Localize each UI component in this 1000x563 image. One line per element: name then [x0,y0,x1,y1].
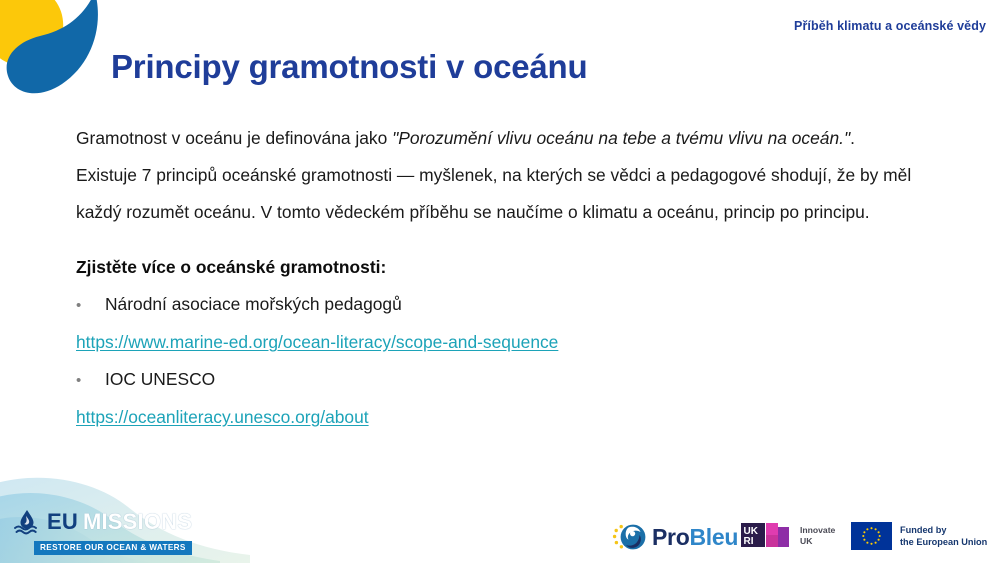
probleu-wordmark: ProBleu [652,526,738,549]
slide-canvas: Příběh klimatu a oceánské vědy Principy … [0,0,1000,563]
slide-body: Gramotnost v oceánu je definována jako "… [76,120,954,436]
list-item: • Národní asociace mořských pedagogů [76,286,954,324]
innovate-uk-text: Innovate UK [800,525,835,547]
eu-missions-missions-text: MISSIONS [83,511,192,533]
svg-text:RI: RI [744,536,754,547]
innovate-uk-line2: UK [800,536,835,547]
water-drop-wave-icon [12,507,42,537]
bullet-icon: • [76,287,105,324]
probleu-swirl-icon [612,521,648,553]
list-item: • IOC UNESCO [76,361,954,399]
definition-tail: . [850,128,855,148]
paragraph-principles: Existuje 7 principů oceánské gramotnosti… [76,157,954,231]
definition-lead: Gramotnost v oceánu je definována jako [76,128,392,148]
ukri-mark-icon: UK RI [740,521,793,551]
link-marine-ed[interactable]: https://www.marine-ed.org/ocean-literacy… [76,332,558,352]
eu-flag-icon [851,522,892,550]
funded-by-eu-text: Funded by the European Union [900,524,987,548]
deck-label: Příběh klimatu a oceánské vědy [794,19,986,33]
eu-missions-logo: EU MISSIONS RESTORE OUR OCEAN & WATERS [12,507,184,555]
funded-by-line1: Funded by [900,524,987,536]
paragraph-definition: Gramotnost v oceánu je definována jako "… [76,120,954,157]
ukri-innovate-uk-logo: UK RI Innovate UK [740,520,835,552]
ocean-leaf-logo-icon [0,0,110,104]
probleu-pro-text: Pro [652,524,689,550]
link-row: https://oceanliteracy.unesco.org/about [76,399,954,436]
eu-missions-eu-text: EU [47,511,78,533]
eu-missions-wordmark-row: EU MISSIONS [12,507,184,537]
list-item-label: IOC UNESCO [105,361,954,398]
link-row: https://www.marine-ed.org/ocean-literacy… [76,324,954,361]
page-title: Principy gramotnosti v oceánu [111,48,587,86]
bullet-icon: • [76,362,105,399]
probleu-bleu-text: Bleu [689,524,738,550]
funded-by-line2: the European Union [900,536,987,548]
probleu-logo: ProBleu [612,519,738,555]
definition-quote: "Porozumění vlivu oceánu na tebe a tvému… [392,128,850,148]
learn-more-heading: Zjistěte více o oceánské gramotnosti: [76,231,954,286]
eu-missions-tagline: RESTORE OUR OCEAN & WATERS [34,541,192,555]
list-item-label: Národní asociace mořských pedagogů [105,286,954,323]
link-unesco[interactable]: https://oceanliteracy.unesco.org/about [76,407,369,427]
innovate-uk-line1: Innovate [800,525,835,536]
funded-by-eu-logo: Funded by the European Union [851,521,987,551]
